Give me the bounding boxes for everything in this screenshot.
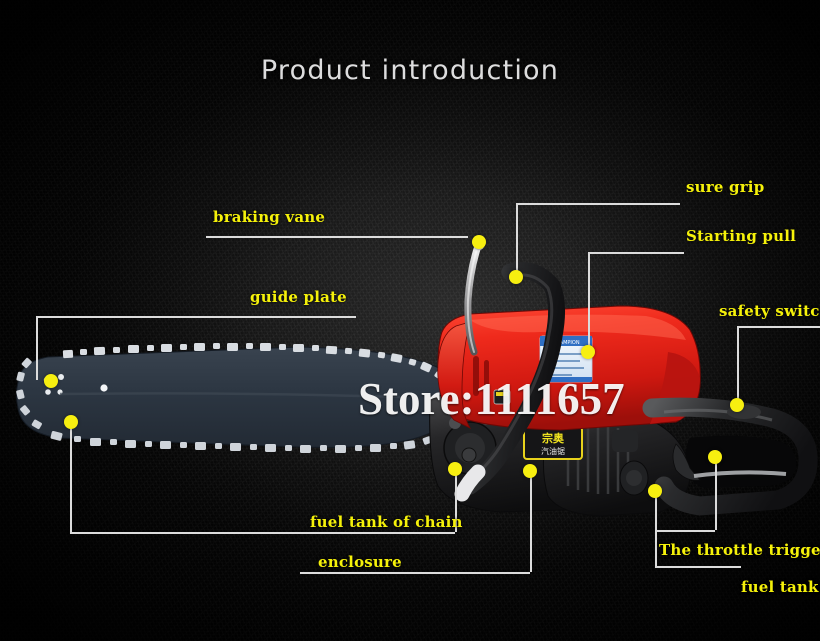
leader-line-sure-grip-h xyxy=(516,203,680,205)
callout-dot-fuel-tank-of-chain xyxy=(64,415,78,429)
callout-dot-chain-oil-port xyxy=(448,462,462,476)
leader-line-fuel-tank-v xyxy=(655,492,657,566)
callout-dot-fuel-tank xyxy=(648,484,662,498)
svg-text:汽油锯: 汽油锯 xyxy=(541,446,565,456)
callout-label-fuel-tank-of-chain: fuel tank of chain xyxy=(310,513,463,531)
leader-line-enclosure-v xyxy=(530,472,532,572)
leader-line-safety-switch-h xyxy=(737,326,820,328)
product-introduction-banner: 宗奥 汽油锯 CHAMPION xyxy=(0,0,820,641)
leader-line-fuel-tank-of-chain-v xyxy=(70,422,72,532)
leader-line-guide-plate-v xyxy=(36,316,38,380)
callout-label-braking-vane: braking vane xyxy=(213,208,325,226)
leader-line-throttle-trigger-v xyxy=(715,458,717,530)
leader-line-sure-grip-v xyxy=(516,203,518,277)
callout-dot-safety-switch xyxy=(730,398,744,412)
callout-label-sure-grip: sure grip xyxy=(686,178,764,196)
leader-line-starting-pull-h xyxy=(588,252,684,254)
callout-label-guide-plate: guide plate xyxy=(250,288,347,306)
callout-label-fuel-tank: fuel tank xyxy=(741,578,819,596)
callout-dot-enclosure xyxy=(523,464,537,478)
callout-dot-braking-vane xyxy=(472,235,486,249)
callout-label-enclosure: enclosure xyxy=(318,553,402,571)
guide-bar xyxy=(17,347,453,447)
leader-line-fuel-tank-h xyxy=(655,566,741,568)
leader-line-guide-plate-h xyxy=(36,316,356,318)
callout-dot-guide-plate xyxy=(44,374,58,388)
callout-dot-starting-pull xyxy=(581,345,595,359)
leader-line-starting-pull-v xyxy=(588,252,590,352)
callout-label-starting-pull: Starting pull xyxy=(686,227,796,245)
leader-line-enclosure-h xyxy=(300,572,530,574)
svg-text:宗奥: 宗奥 xyxy=(542,431,565,445)
leader-line-throttle-trigger-h xyxy=(655,530,715,532)
callout-dot-throttle-trigger xyxy=(708,450,722,464)
callout-label-throttle-trigger: The throttle trigger xyxy=(659,541,820,559)
leader-line-fuel-tank-of-chain-h xyxy=(70,532,455,534)
leader-line-safety-switch-v xyxy=(737,326,739,406)
callout-dot-sure-grip xyxy=(509,270,523,284)
leader-line-braking-vane xyxy=(206,236,468,238)
callout-label-safety-switch: safety switch xyxy=(719,302,820,320)
